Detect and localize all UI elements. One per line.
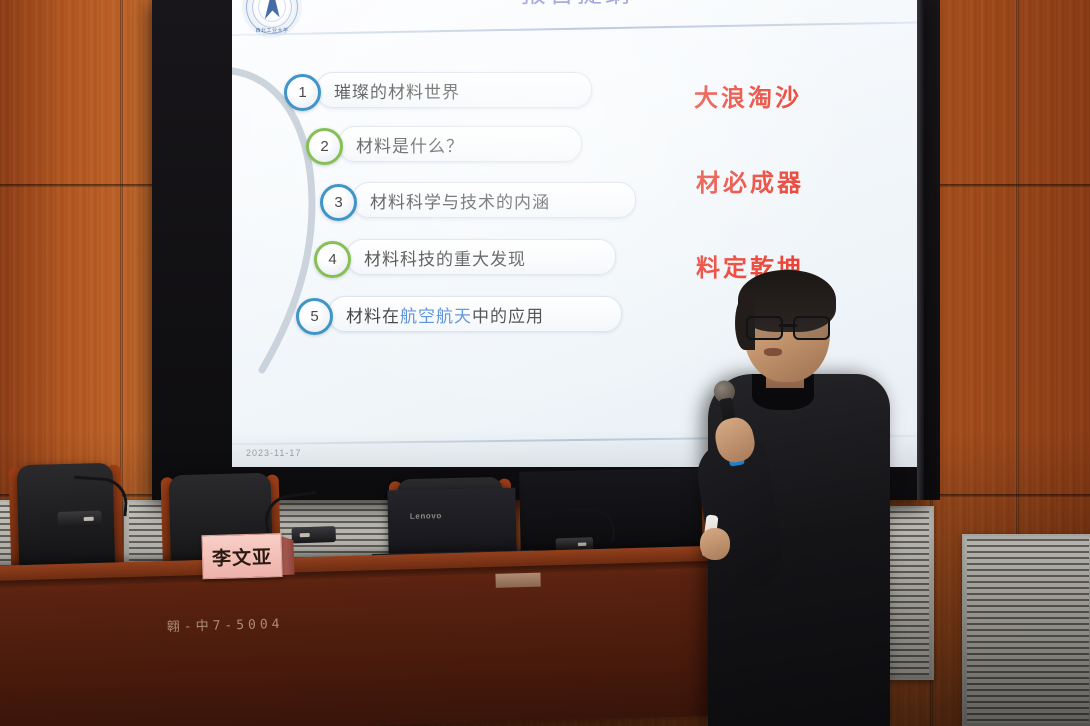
slide-title: 报告提纲: [232, 0, 922, 10]
annotation-text: 材必成器: [696, 163, 894, 198]
slide-annotations: 大浪淘沙 材必成器 料定乾坤: [694, 78, 894, 283]
outline-item-highlight: 航空航天: [400, 302, 472, 327]
outline-number-badge: 4: [314, 241, 351, 278]
name-plate-text: 李文亚: [201, 533, 282, 579]
outline-item-label: 材料科学与技术的内涵: [370, 188, 550, 213]
outline-number-badge: 3: [320, 184, 357, 221]
speaker-mouth: [764, 348, 782, 356]
desk-room-label: 翱-中7-5004: [166, 613, 283, 635]
outline-number-badge: 2: [306, 128, 343, 165]
outline-number-badge: 5: [296, 298, 333, 335]
name-plate: 李文亚: [201, 533, 294, 578]
eyeglasses-icon: [746, 316, 830, 336]
outline-item-label-suffix: 中的应用: [472, 302, 544, 327]
desk-metal-plate: [495, 573, 540, 588]
conference-desk: 翱-中7-5004: [0, 545, 734, 726]
outline-number-badge: 1: [284, 74, 321, 111]
slide-header-divider: [232, 21, 922, 36]
laptop[interactable]: Lenovo: [387, 488, 516, 558]
laptop-brand-label: Lenovo: [410, 511, 442, 521]
speaker-hand: [700, 528, 730, 560]
annotation-text: 大浪淘沙: [694, 78, 894, 113]
lecture-hall-photo: 西北工业大学 报告提纲 1 璀璨的材料世界 2 材料是什么？: [0, 0, 1090, 726]
outline-item-bubble[interactable]: 材料科学与技术的内涵: [352, 182, 636, 218]
speaker-person: [690, 270, 900, 726]
